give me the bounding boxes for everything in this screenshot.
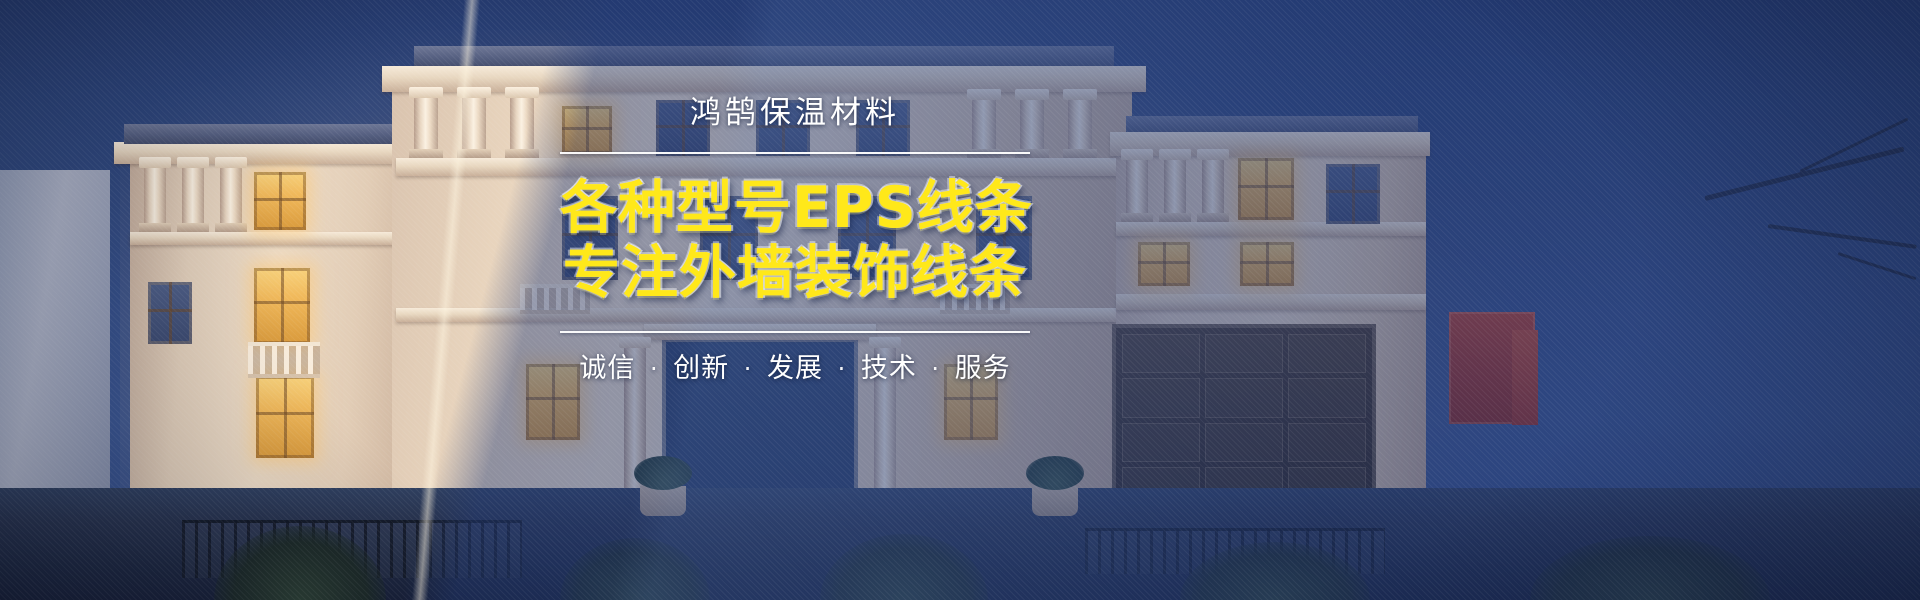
tagline-separator-icon: · [833,355,852,383]
column [1164,158,1186,222]
lit-window [1138,242,1190,286]
column [414,96,438,158]
tagline-item-1: 诚信 [579,353,635,384]
tagline-item-4: 技术 [861,353,917,384]
dark-window [1326,164,1380,224]
lit-window [1240,242,1294,286]
lit-window [254,172,306,230]
red-structure-side [1512,330,1538,425]
tagline-item-2: 创新 [673,353,729,384]
divider-bottom [560,331,1030,333]
lit-window [254,268,310,344]
dark-window [148,282,192,344]
headline-group: 各种型号EPS线条 专注外墙装饰线条 [560,176,1030,305]
tagline-item-3: 发展 [767,353,823,384]
adjacent-building [0,170,110,500]
planter-foliage [1026,456,1084,490]
tagline-separator-icon: · [926,355,945,383]
lit-window [1238,158,1294,220]
column [1068,98,1092,158]
balustrade [248,342,320,378]
column [510,96,534,158]
column [144,166,166,232]
cornice-band [130,232,406,245]
column [1126,158,1148,222]
column [220,166,242,232]
banner-copy-block: 鸿鹄保温材料 各种型号EPS线条 专注外墙装饰线条 诚信 · 创新 · 发展 ·… [560,96,1030,384]
planter [1032,486,1078,516]
planter [640,486,686,516]
column [1202,158,1224,222]
company-name: 鸿鹄保温材料 [560,96,1030,130]
headline-line-2: 专注外墙装饰线条 [560,241,1030,305]
hero-banner: 鸿鹄保温材料 各种型号EPS线条 专注外墙装饰线条 诚信 · 创新 · 发展 ·… [0,0,1920,600]
roof-ridge [414,46,1114,68]
cornice-band [1110,132,1430,156]
divider-top [560,152,1030,154]
cornice-band [1116,294,1426,310]
tagline-separator-icon: · [739,355,758,383]
tagline: 诚信 · 创新 · 发展 · 技术 · 服务 [560,354,1030,384]
headline-line-1: 各种型号EPS线条 [560,176,1030,240]
column [462,96,486,158]
roof-edge [124,124,410,144]
column [182,166,204,232]
tagline-separator-icon: · [645,355,664,383]
planter-foliage [634,456,692,490]
lit-window [256,376,314,458]
cornice-band [1116,222,1426,236]
tagline-item-5: 服务 [955,353,1011,384]
